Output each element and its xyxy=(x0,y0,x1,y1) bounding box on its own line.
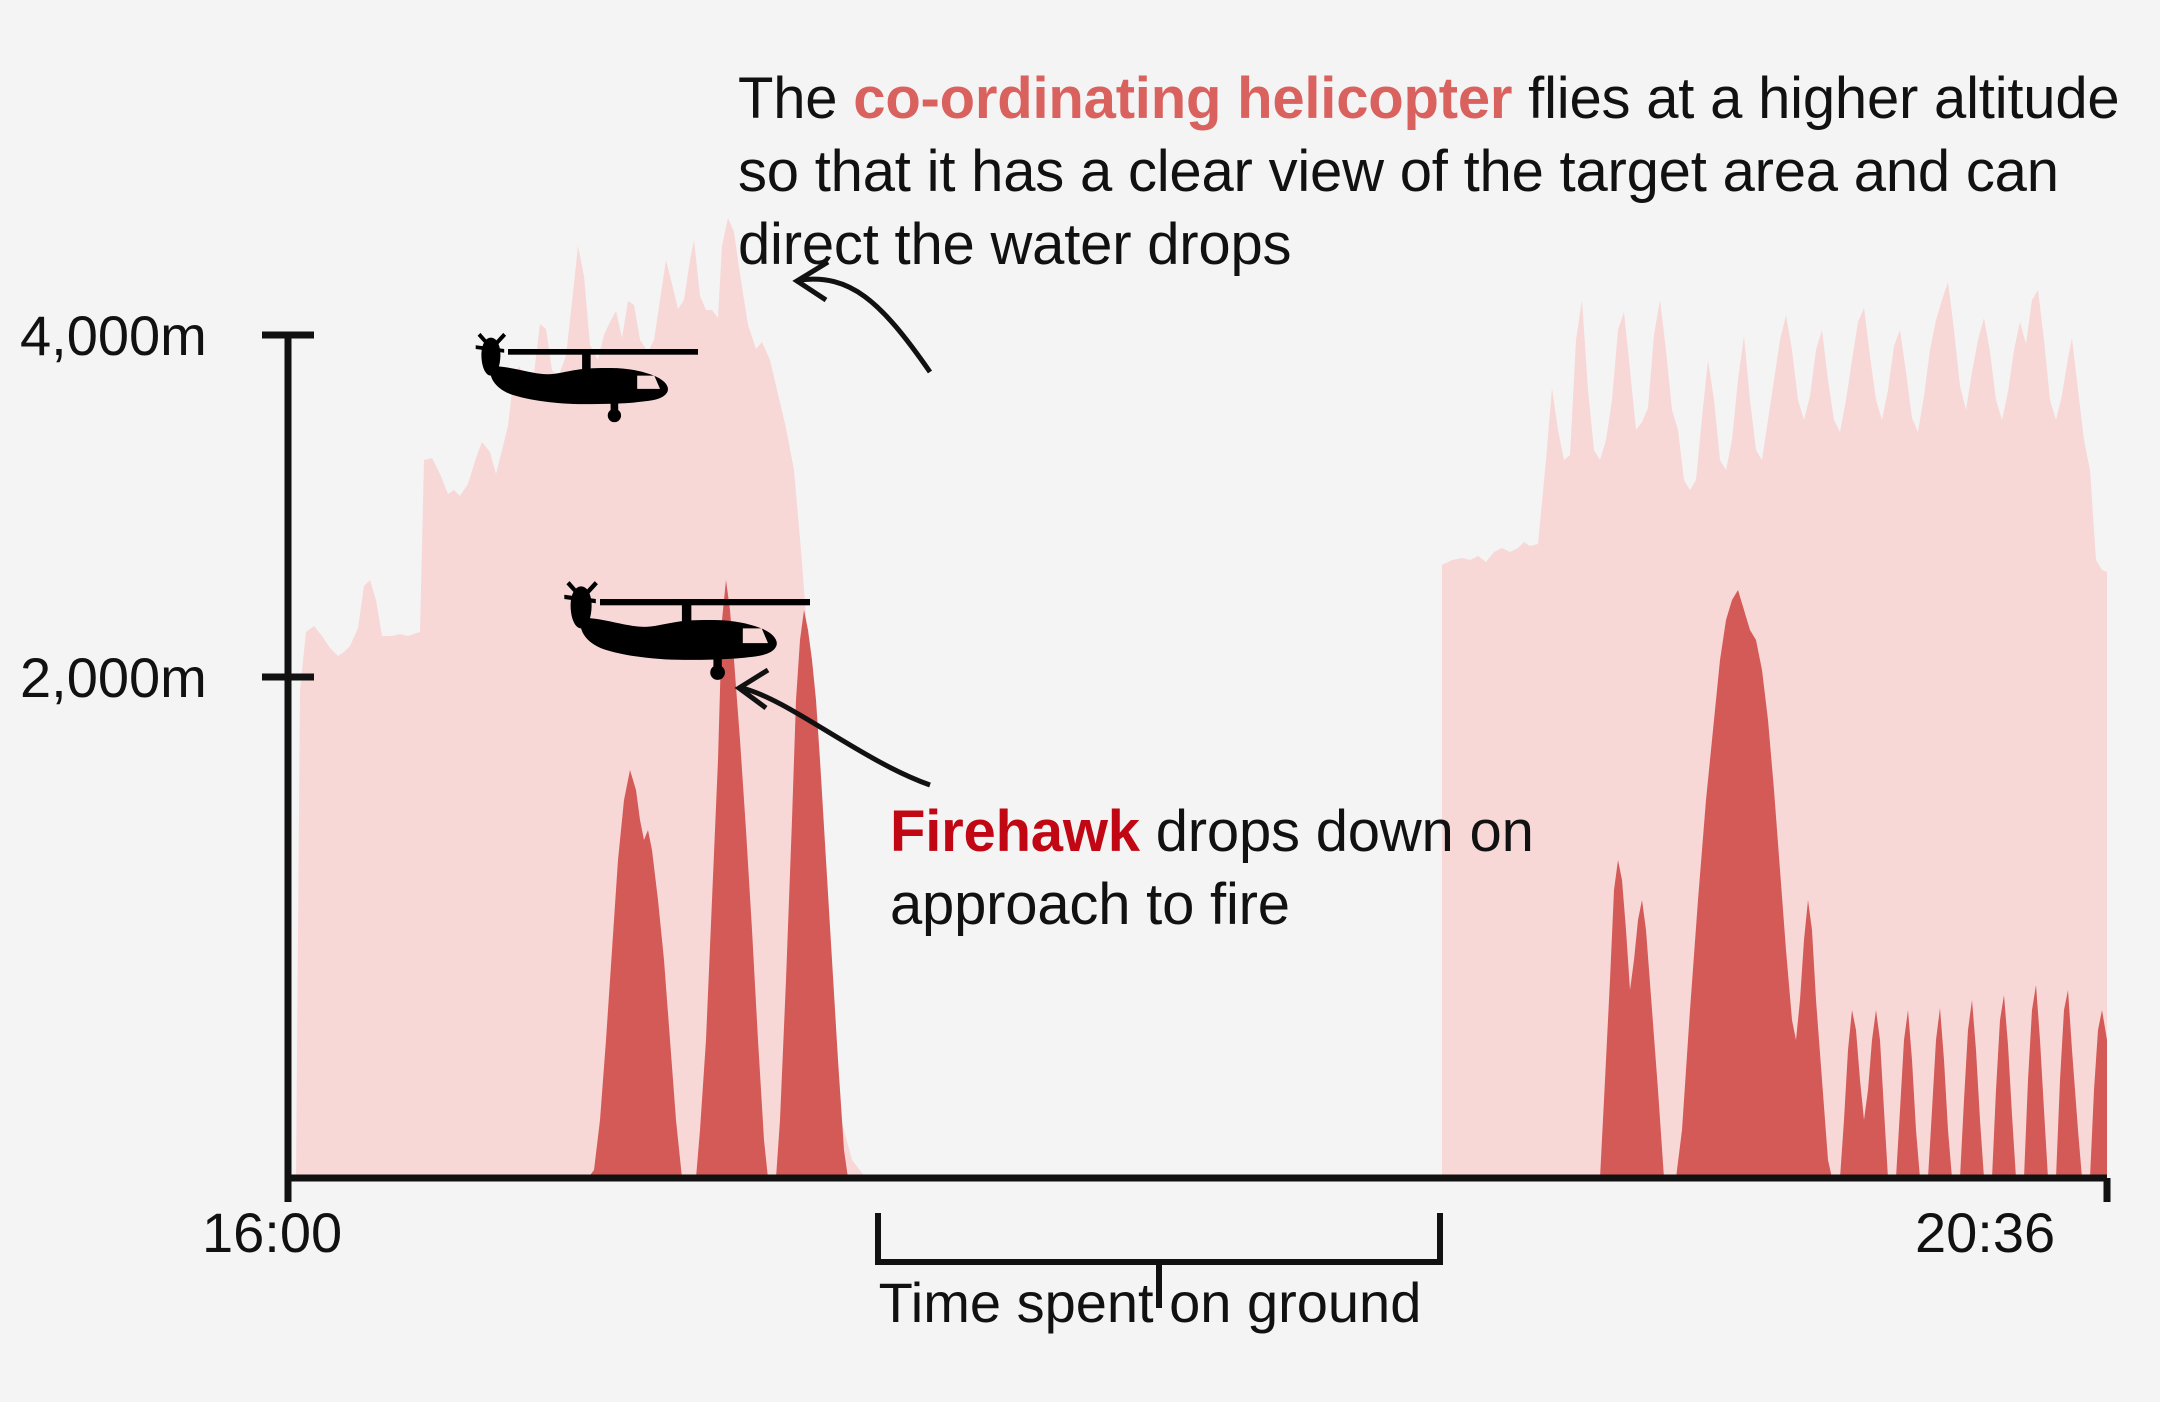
annotation-coordinating-helicopter: The co-ordinating helicopter flies at a … xyxy=(738,62,2138,281)
x-axis-tick-label-end: 20:36 xyxy=(1915,1200,2055,1265)
x-axis-tick-label-start: 16:00 xyxy=(202,1200,342,1265)
series-coordinating-helicopter xyxy=(292,218,2107,1178)
y-axis-tick-label-4000: 4,000m xyxy=(20,303,207,368)
annotation-highlight-firehawk: Firehawk xyxy=(890,799,1140,864)
annotation-firehawk: Firehawk drops down on approach to fire xyxy=(890,795,1570,941)
annotation-highlight-coordinating-helicopter: co-ordinating helicopter xyxy=(853,66,1512,131)
y-axis-tick-label-2000: 2,000m xyxy=(20,645,207,710)
annotation-lead-text: The xyxy=(738,66,853,131)
ground-time-label: Time spent on ground xyxy=(780,1270,1520,1335)
infographic-root: 4,000m 2,000m 16:00 20:36 Time spent on … xyxy=(0,0,2160,1402)
